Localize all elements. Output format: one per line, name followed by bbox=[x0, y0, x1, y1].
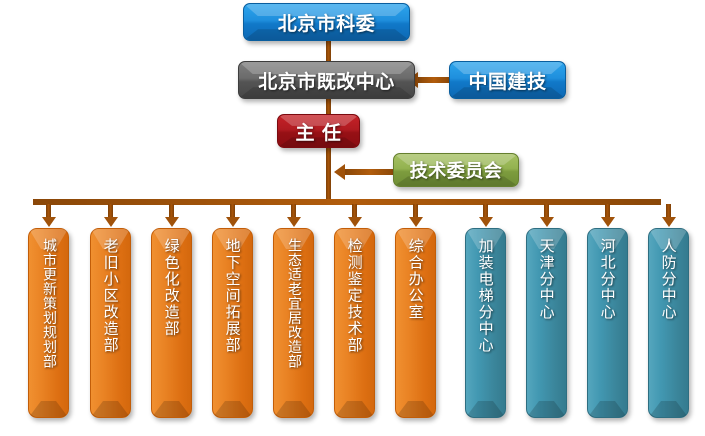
node-label: 河北分中心 bbox=[599, 238, 615, 321]
connector-bus-to-node-9 bbox=[605, 204, 610, 218]
org-chart: 北京市科委 北京市既改中心 中国建技 主 任 技术委员会 城市更新策划规划部老旧… bbox=[0, 0, 705, 436]
connector-bus-to-node-6 bbox=[413, 204, 418, 218]
arrow-down-node-10 bbox=[662, 217, 676, 227]
node-beijing-kewei-label: 北京市科委 bbox=[278, 9, 376, 36]
department-node-2[interactable]: 绿色化改造部 bbox=[151, 228, 192, 418]
arrow-down-node-7 bbox=[479, 217, 493, 227]
connector-committee-to-director bbox=[345, 169, 395, 175]
arrow-down-node-1 bbox=[104, 217, 118, 227]
node-zhongguo-jianji[interactable]: 中国建技 bbox=[449, 61, 566, 99]
node-label: 综合办公室 bbox=[407, 238, 423, 321]
node-label: 加装电梯分中心 bbox=[477, 238, 493, 354]
connector-bus-to-node-10 bbox=[666, 204, 671, 218]
arrow-down-node-3 bbox=[226, 217, 240, 227]
department-node-3[interactable]: 地下空间拓展部 bbox=[212, 228, 253, 418]
connector-bus-to-node-5 bbox=[352, 204, 357, 218]
connector-bus-to-node-4 bbox=[291, 204, 296, 218]
branch-node-9[interactable]: 河北分中心 bbox=[587, 228, 628, 418]
connector-bus-to-node-0 bbox=[46, 204, 51, 218]
connector-bus-to-node-3 bbox=[230, 204, 235, 218]
arrow-committee-to-director bbox=[334, 164, 345, 180]
arrow-down-node-9 bbox=[601, 217, 615, 227]
node-label: 绿色化改造部 bbox=[163, 238, 179, 337]
department-node-5[interactable]: 检测鉴定技术部 bbox=[334, 228, 375, 418]
arrow-down-node-0 bbox=[42, 217, 56, 227]
node-beijing-kewei[interactable]: 北京市科委 bbox=[243, 3, 410, 41]
node-jigai-center[interactable]: 北京市既改中心 bbox=[238, 61, 415, 99]
department-node-0[interactable]: 城市更新策划规划部 bbox=[28, 228, 69, 418]
connector-horizontal-bus bbox=[33, 199, 661, 205]
department-node-4[interactable]: 生态适老宜居改造部 bbox=[273, 228, 314, 418]
node-label: 老旧小区改造部 bbox=[102, 238, 118, 354]
node-jigai-center-label: 北京市既改中心 bbox=[258, 67, 395, 94]
node-label: 地下空间拓展部 bbox=[224, 238, 240, 354]
node-label: 生态适老宜居改造部 bbox=[286, 238, 301, 369]
node-zhongguo-jianji-label: 中国建技 bbox=[468, 67, 546, 94]
arrow-down-node-4 bbox=[287, 217, 301, 227]
node-label: 人防分中心 bbox=[660, 238, 676, 321]
connector-director-to-bus bbox=[326, 148, 331, 202]
branch-node-10[interactable]: 人防分中心 bbox=[648, 228, 689, 418]
node-director[interactable]: 主 任 bbox=[277, 114, 360, 148]
connector-bus-to-node-1 bbox=[108, 204, 113, 218]
node-label: 检测鉴定技术部 bbox=[346, 238, 362, 354]
node-technical-committee-label: 技术委员会 bbox=[410, 157, 503, 183]
node-label: 天津分中心 bbox=[538, 238, 554, 321]
arrow-down-node-6 bbox=[409, 217, 423, 227]
arrow-down-node-5 bbox=[348, 217, 362, 227]
branch-node-7[interactable]: 加装电梯分中心 bbox=[465, 228, 506, 418]
connector-bus-to-node-7 bbox=[483, 204, 488, 218]
branch-node-8[interactable]: 天津分中心 bbox=[526, 228, 567, 418]
node-label: 城市更新策划规划部 bbox=[41, 238, 56, 369]
connector-bus-to-node-2 bbox=[169, 204, 174, 218]
department-node-1[interactable]: 老旧小区改造部 bbox=[90, 228, 131, 418]
node-director-label: 主 任 bbox=[295, 118, 341, 145]
connector-jianji-to-center bbox=[418, 77, 450, 83]
department-node-6[interactable]: 综合办公室 bbox=[395, 228, 436, 418]
arrow-down-node-2 bbox=[165, 217, 179, 227]
connector-bus-to-node-8 bbox=[544, 204, 549, 218]
node-technical-committee[interactable]: 技术委员会 bbox=[393, 153, 519, 187]
arrow-down-node-8 bbox=[540, 217, 554, 227]
